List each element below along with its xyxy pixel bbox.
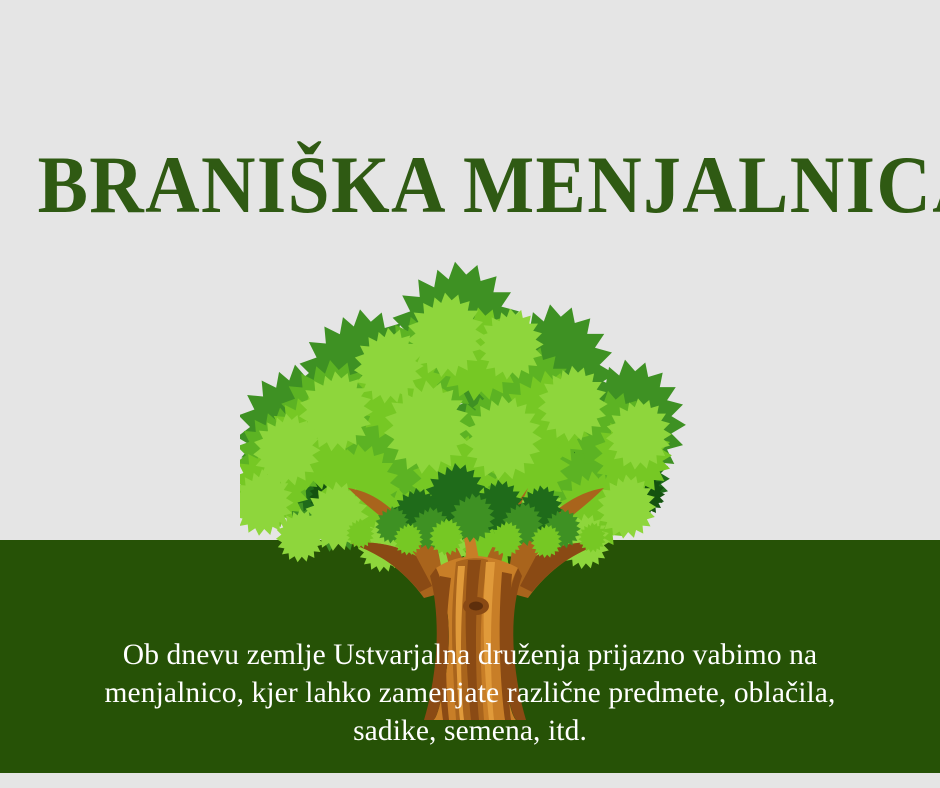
body-text: Ob dnevu zemlje Ustvarjalna druženja pri… (14, 636, 926, 750)
body-text-line-2: menjalnico, kjer lahko zamenjate različn… (14, 674, 926, 712)
body-text-line-1: Ob dnevu zemlje Ustvarjalna druženja pri… (14, 636, 926, 674)
page-title: BRANIŠKA MENJALNICA (38, 139, 903, 231)
background-footer-strip (0, 773, 940, 788)
poster-canvas: BRANIŠKA MENJALNICA (0, 0, 940, 788)
body-text-line-3: sadike, semena, itd. (14, 712, 926, 750)
